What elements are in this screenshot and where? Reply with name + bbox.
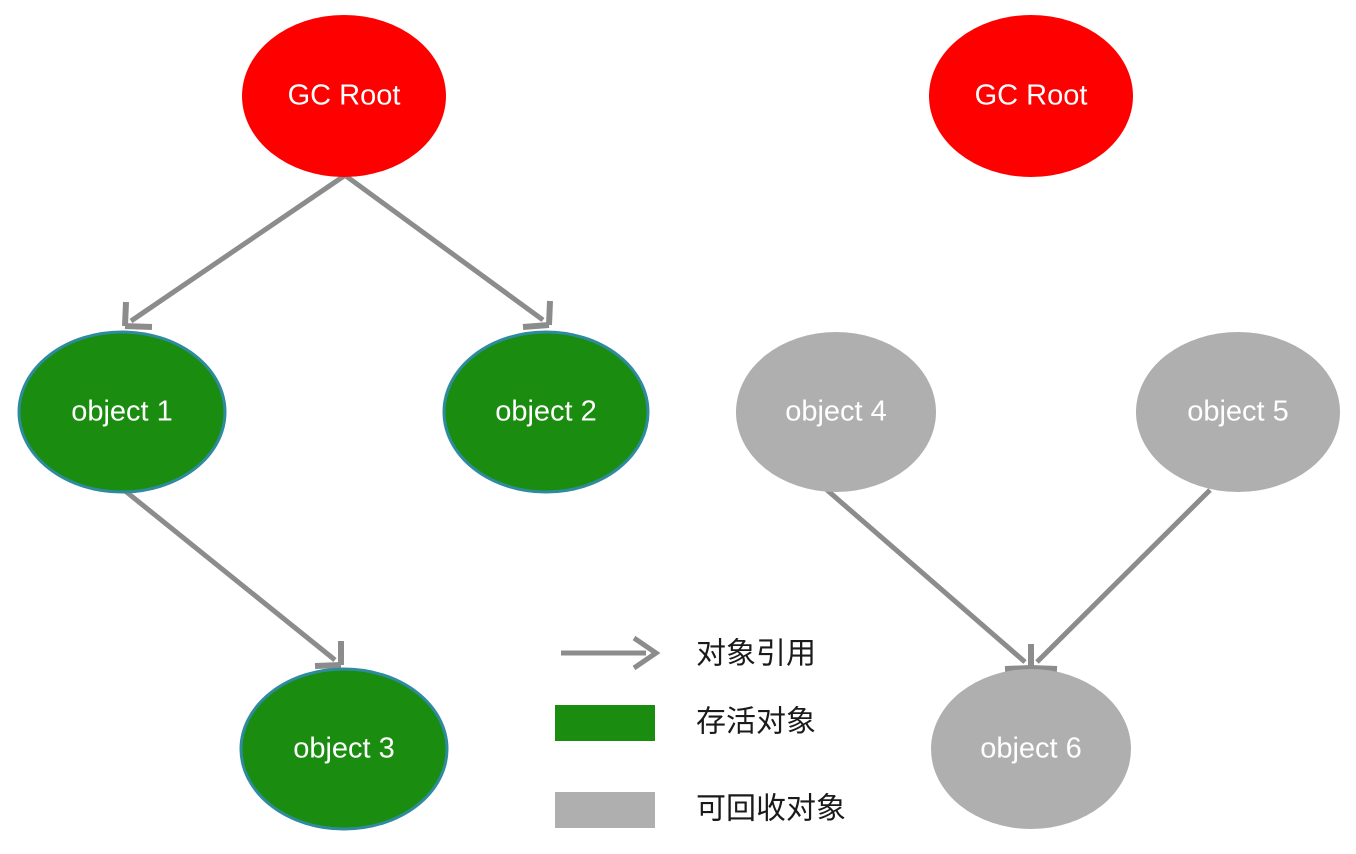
diagram-canvas: GC Root object 1 object 2 object 3 GC Ro… bbox=[0, 0, 1356, 854]
nodes-layer: GC Root object 1 object 2 object 3 GC Ro… bbox=[19, 15, 1340, 829]
node-object-2[interactable]: object 2 bbox=[444, 332, 648, 492]
legend-item-live: 存活对象 bbox=[555, 705, 816, 742]
node-label: object 2 bbox=[495, 396, 597, 428]
node-label: object 3 bbox=[293, 733, 395, 765]
node-label: object 1 bbox=[71, 396, 173, 428]
legend: 对象引用 存活对象 可回收对象 bbox=[555, 637, 846, 829]
edge-line bbox=[124, 490, 335, 660]
edge-line bbox=[131, 176, 344, 321]
edges-layer bbox=[124, 176, 1210, 669]
legend-label: 存活对象 bbox=[696, 705, 816, 740]
node-object-5[interactable]: object 5 bbox=[1136, 332, 1340, 492]
node-label: GC Root bbox=[975, 80, 1088, 112]
legend-swatch-green bbox=[555, 705, 655, 741]
node-gc-root-right[interactable]: GC Root bbox=[929, 15, 1133, 177]
edge-line bbox=[346, 176, 543, 320]
legend-item-reference: 对象引用 bbox=[561, 637, 816, 672]
legend-label: 对象引用 bbox=[696, 637, 816, 672]
edge-line bbox=[1037, 490, 1210, 662]
edge-object5-object6 bbox=[1031, 490, 1210, 669]
edge-line bbox=[827, 490, 1025, 662]
node-label: object 5 bbox=[1187, 396, 1289, 428]
arrowhead-icon bbox=[1031, 668, 1057, 669]
edge-object1-object3 bbox=[124, 490, 341, 666]
node-label: object 4 bbox=[785, 396, 887, 428]
legend-item-garbage: 可回收对象 bbox=[555, 792, 846, 829]
edge-object4-object6 bbox=[827, 490, 1031, 669]
edge-gcroot-object1 bbox=[125, 176, 344, 327]
node-label: GC Root bbox=[288, 80, 401, 112]
node-gc-root-left[interactable]: GC Root bbox=[242, 15, 446, 177]
legend-label: 可回收对象 bbox=[696, 792, 846, 827]
node-object-6[interactable]: object 6 bbox=[931, 669, 1131, 829]
node-object-1[interactable]: object 1 bbox=[19, 332, 225, 492]
node-object-3[interactable]: object 3 bbox=[241, 669, 447, 829]
gc-reachability-diagram: GC Root object 1 object 2 object 3 GC Ro… bbox=[0, 0, 1356, 854]
edge-gcroot-object2 bbox=[346, 176, 550, 327]
node-label: object 6 bbox=[980, 733, 1082, 765]
node-object-4[interactable]: object 4 bbox=[736, 332, 936, 492]
legend-swatch-gray bbox=[555, 792, 655, 828]
